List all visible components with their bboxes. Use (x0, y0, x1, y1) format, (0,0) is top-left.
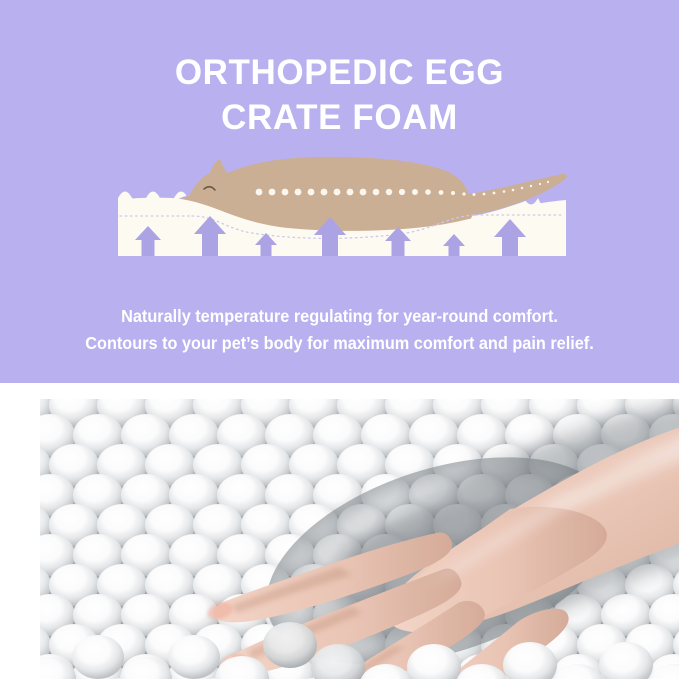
page-title: ORTHOPEDIC EGG CRATE FOAM (0, 50, 679, 140)
subcopy-line-1: Naturally temperature regulating for yea… (24, 303, 655, 330)
product-infographic: ORTHOPEDIC EGG CRATE FOAM (0, 0, 679, 679)
info-panel: ORTHOPEDIC EGG CRATE FOAM (0, 0, 679, 383)
subcopy: Naturally temperature regulating for yea… (0, 303, 679, 357)
subcopy-line-2: Contours to your pet’s body for maximum … (24, 330, 655, 357)
photo-overlay (40, 399, 679, 679)
foam-hand-photo (40, 399, 679, 679)
foam-support-illustration (100, 128, 580, 278)
